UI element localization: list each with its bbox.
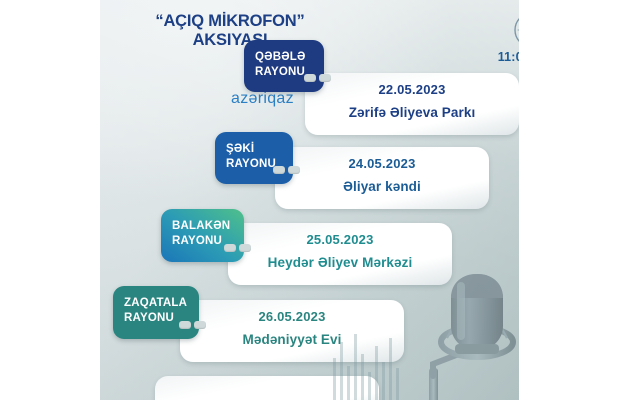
event-card[interactable]: 25.05.2023 Heydər Əliyev Mərkəzi bbox=[228, 223, 452, 285]
plug-connector-icon bbox=[273, 164, 307, 176]
district-badge[interactable]: ŞƏKİ RAYONU bbox=[215, 132, 293, 184]
time-range-label: 11:00-12:00 bbox=[480, 50, 519, 64]
district-badge[interactable]: BALAKƏN RAYONU bbox=[161, 209, 244, 262]
plug-connector-icon bbox=[179, 319, 213, 331]
plug-connector-icon bbox=[304, 72, 338, 84]
event-card[interactable]: 24.05.2023 Əliyar kəndi bbox=[275, 147, 489, 209]
event-place: Mədəniyyət Evi bbox=[180, 332, 404, 347]
district-line-1: ZAQATALA bbox=[124, 297, 187, 309]
clock-icon bbox=[513, 11, 519, 49]
district-badge[interactable]: QƏBƏLƏ RAYONU bbox=[244, 40, 324, 92]
district-line-1: QƏBƏLƏ bbox=[255, 51, 306, 63]
district-line-1: BALAKƏN bbox=[172, 220, 230, 232]
brand-wordmark: azəriqaz bbox=[210, 90, 315, 108]
event-card[interactable]: 26.05.2023 Mədəniyyət Evi bbox=[180, 300, 404, 362]
event-place: Heydər Əliyev Mərkəzi bbox=[228, 255, 452, 270]
district-badge[interactable]: ZAQATALA RAYONU bbox=[113, 286, 199, 339]
poster-canvas: “AÇIQ MİKROFON” AKSIYASI azəriqaz bbox=[0, 0, 637, 400]
event-card-partial bbox=[155, 376, 379, 400]
campaign-poster: “AÇIQ MİKROFON” AKSIYASI azəriqaz bbox=[100, 0, 519, 400]
headline-line-1: “AÇIQ MİKROFON” bbox=[155, 12, 304, 30]
district-line-1: ŞƏKİ bbox=[226, 143, 254, 155]
event-place: Zərifə Əliyeva Parkı bbox=[305, 105, 519, 120]
event-date: 24.05.2023 bbox=[275, 156, 489, 171]
plug-connector-icon bbox=[224, 242, 258, 254]
event-place: Əliyar kəndi bbox=[275, 179, 489, 194]
event-date: 22.05.2023 bbox=[305, 82, 519, 97]
event-date: 26.05.2023 bbox=[180, 309, 404, 324]
event-date: 25.05.2023 bbox=[228, 232, 452, 247]
